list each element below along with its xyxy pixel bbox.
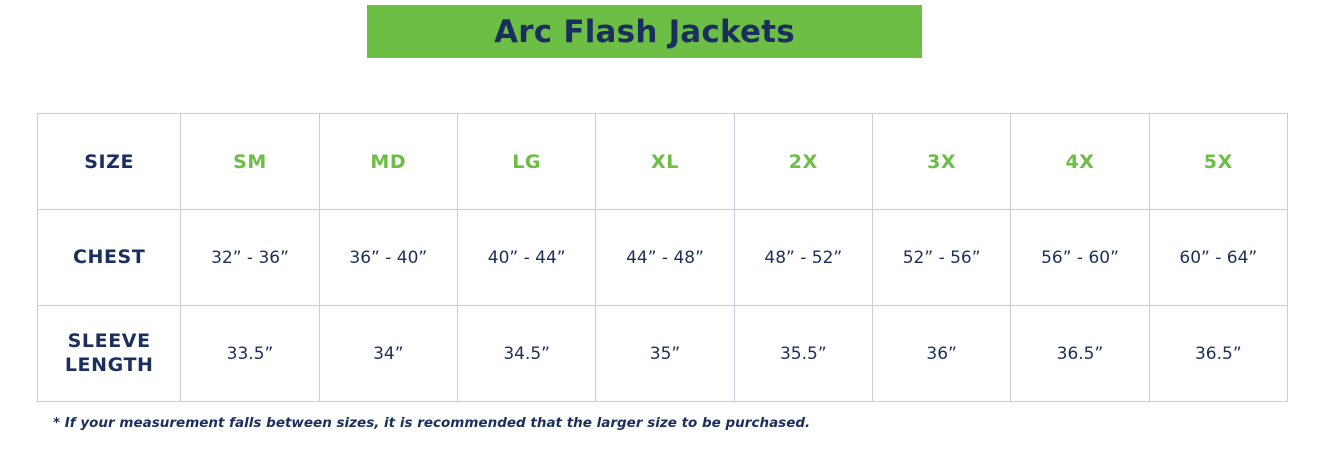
table-row-sleeve-length: SLEEVE LENGTH 33.5” 34” 34.5” 35” 35.5” …	[38, 306, 1288, 402]
sleeve-5x: 36.5”	[1149, 306, 1287, 402]
header-cell-md: MD	[319, 114, 457, 210]
header-cell-lg: LG	[458, 114, 596, 210]
sleeve-md: 34”	[319, 306, 457, 402]
chest-md: 36” - 40”	[319, 210, 457, 306]
page-title: Arc Flash Jackets	[494, 14, 795, 50]
chest-2x: 48” - 52”	[734, 210, 872, 306]
chest-lg: 40” - 44”	[458, 210, 596, 306]
footnote-text: * If your measurement falls between size…	[53, 415, 810, 431]
sleeve-3x: 36”	[872, 306, 1010, 402]
header-cell-sm: SM	[181, 114, 319, 210]
row-label-sleeve-length: SLEEVE LENGTH	[38, 306, 181, 402]
sleeve-2x: 35.5”	[734, 306, 872, 402]
sleeve-4x: 36.5”	[1011, 306, 1149, 402]
sleeve-lg: 34.5”	[458, 306, 596, 402]
size-chart-table: SIZE SM MD LG XL 2X 3X 4X 5X CHEST 32” -…	[37, 113, 1288, 402]
header-cell-size: SIZE	[38, 114, 181, 210]
row-label-sleeve-line2: LENGTH	[39, 354, 179, 378]
header-cell-xl: XL	[596, 114, 734, 210]
header-cell-4x: 4X	[1011, 114, 1149, 210]
chest-5x: 60” - 64”	[1149, 210, 1287, 306]
table-row-header: SIZE SM MD LG XL 2X 3X 4X 5X	[38, 114, 1288, 210]
header-cell-5x: 5X	[1149, 114, 1287, 210]
header-cell-3x: 3X	[872, 114, 1010, 210]
chest-4x: 56” - 60”	[1011, 210, 1149, 306]
chest-sm: 32” - 36”	[181, 210, 319, 306]
sleeve-sm: 33.5”	[181, 306, 319, 402]
row-label-chest: CHEST	[38, 210, 181, 306]
chest-3x: 52” - 56”	[872, 210, 1010, 306]
size-chart-page: Arc Flash Jackets SIZE SM MD LG XL 2X 3X…	[0, 0, 1323, 456]
row-label-sleeve-line1: SLEEVE	[39, 330, 179, 354]
title-banner: Arc Flash Jackets	[367, 5, 922, 58]
sleeve-xl: 35”	[596, 306, 734, 402]
table-row-chest: CHEST 32” - 36” 36” - 40” 40” - 44” 44” …	[38, 210, 1288, 306]
header-cell-2x: 2X	[734, 114, 872, 210]
chest-xl: 44” - 48”	[596, 210, 734, 306]
